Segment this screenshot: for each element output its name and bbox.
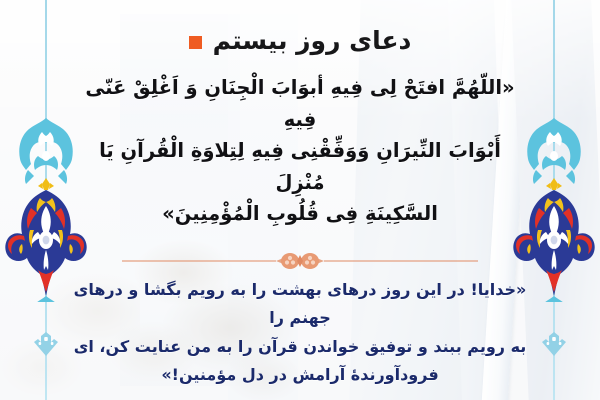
prayer-poster: دعای روز بیستم «اللّهُمَّ افتَحْ لِی فِی… (0, 0, 600, 400)
orange-square-bullet-icon (189, 36, 202, 49)
ornamental-rule-icon (118, 252, 482, 270)
arabic-line: «اللّهُمَّ افتَحْ لِی فِیهِ أبوَابَ الْج… (78, 72, 522, 135)
arabic-line: أَبْوَابَ النِّیرَانِ وَوَفِّقْنِی فِیهِ… (78, 135, 522, 198)
title-text: دعای روز بیستم (213, 28, 412, 53)
poster-content: دعای روز بیستم «اللّهُمَّ افتَحْ لِی فِی… (0, 0, 600, 400)
persian-line: «خدایا! در این روز درهای بهشت را به رویم… (60, 276, 540, 333)
persian-line: فرودآورندهٔ آرامش در دل مؤمنین!» (60, 361, 540, 389)
persian-line: به رویم ببند و توفیق خواندن قرآن را به م… (60, 333, 540, 361)
page-title: دعای روز بیستم (0, 28, 600, 53)
persian-translation-text: «خدایا! در این روز درهای بهشت را به رویم… (60, 276, 540, 390)
arabic-prayer-text: «اللّهُمَّ افتَحْ لِی فِیهِ أبوَابَ الْج… (78, 72, 522, 230)
arabic-line: السَّکِینَةِ فِی قُلُوبِ الْمُؤْمِنِینَ» (78, 198, 522, 230)
